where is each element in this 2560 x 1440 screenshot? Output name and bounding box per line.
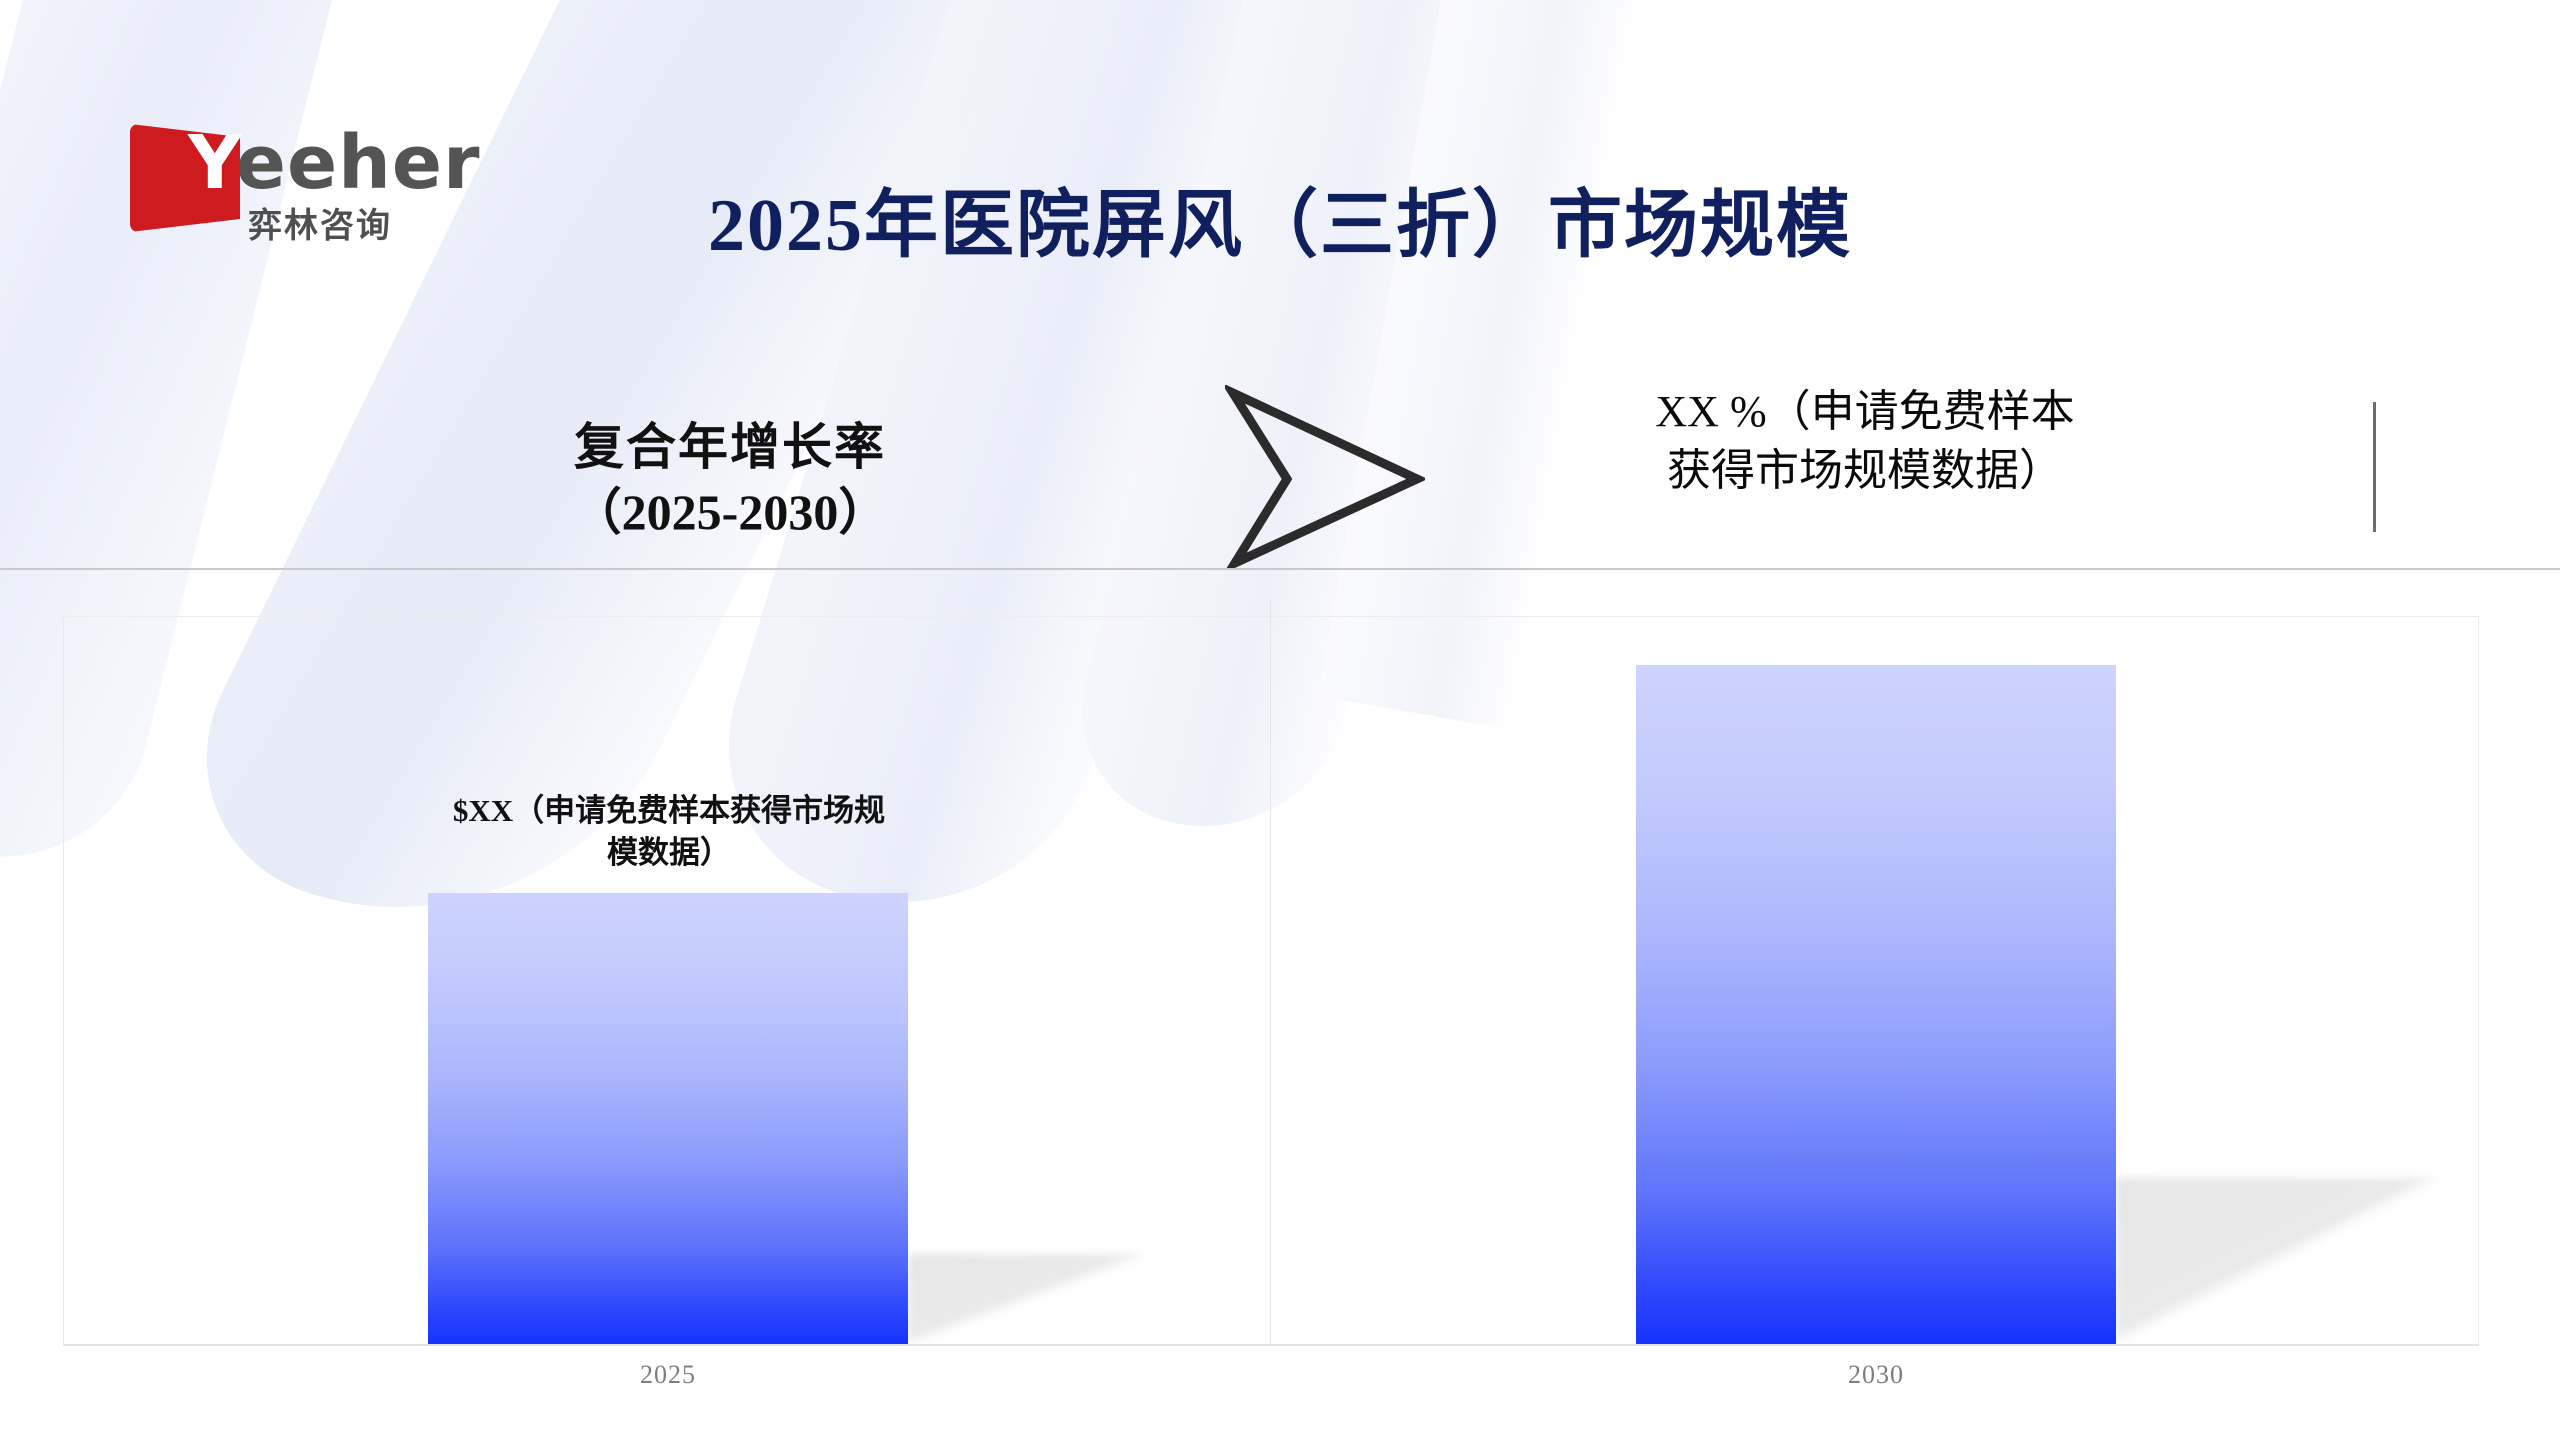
x-axis-line bbox=[63, 1344, 2479, 1346]
bar-value-label-2025-line1: $XX（申请免费样本获得市场规 bbox=[424, 790, 914, 832]
x-tick-2030: 2030 bbox=[1726, 1360, 2026, 1390]
arrow-right-outline-icon bbox=[1225, 385, 1425, 570]
x-tick-2025: 2025 bbox=[518, 1360, 818, 1390]
bar-value-label-2025: $XX（申请免费样本获得市场规 模数据） bbox=[424, 790, 914, 874]
market-size-note-line1: XX %（申请免费样本 bbox=[1600, 382, 2130, 441]
section-divider-top bbox=[0, 568, 2560, 570]
market-size-note-line2: 获得市场规模数据） bbox=[1600, 441, 2130, 500]
bar-2025[interactable] bbox=[428, 893, 908, 1344]
chart-column-divider bbox=[1270, 600, 1271, 1346]
bar-value-label-2025-line2: 模数据） bbox=[424, 832, 914, 874]
vertical-rule-divider bbox=[2373, 402, 2376, 532]
cagr-label: 复合年增长率 bbox=[420, 415, 1040, 480]
market-size-note: XX %（申请免费样本 获得市场规模数据） bbox=[1600, 382, 2130, 501]
cagr-block: 复合年增长率 （2025-2030） bbox=[420, 415, 1040, 545]
page-title: 2025年医院屏风（三折）市场规模 bbox=[0, 165, 2560, 272]
chart-panel bbox=[63, 616, 2479, 1346]
cagr-period: （2025-2030） bbox=[420, 480, 1040, 545]
slide-canvas: Yeeher 弈林咨询 2025年医院屏风（三折）市场规模 复合年增长率 （20… bbox=[0, 0, 2560, 1440]
bar-2030[interactable] bbox=[1636, 665, 2116, 1344]
